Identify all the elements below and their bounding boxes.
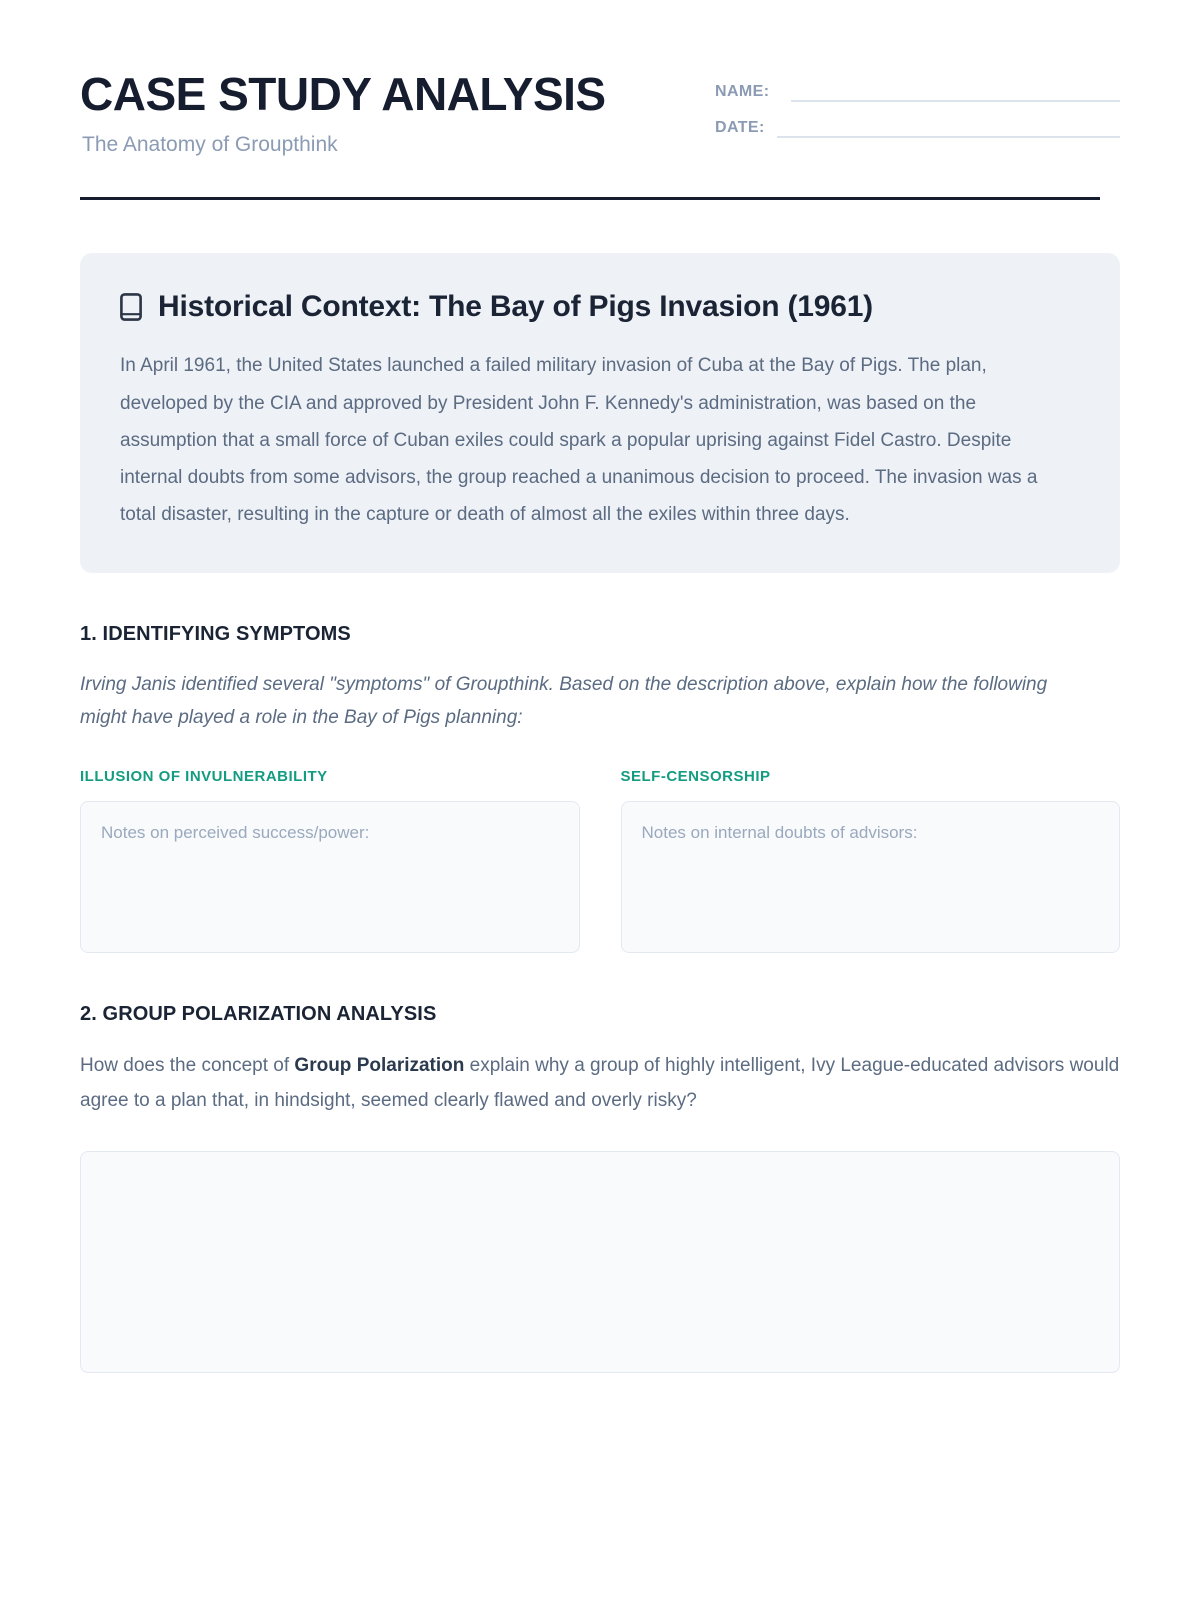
name-input[interactable] [791,86,1120,102]
book-icon [120,293,142,321]
symptom-column-invulnerability: ILLUSION OF INVULNERABILITY Notes on per… [80,768,580,953]
prompt-label-self-censorship: SELF-CENSORSHIP [621,768,1121,785]
worksheet-page: CASE STUDY ANALYSIS The Anatomy of Group… [0,0,1200,1600]
answer-box-self-censorship[interactable]: Notes on internal doubts of advisors: [621,801,1121,953]
section2-question-part1: How does the concept of [80,1055,294,1076]
date-label: DATE: [715,120,765,138]
section2-question: How does the concept of Group Polarizati… [80,1048,1120,1118]
page-title: CASE STUDY ANALYSIS [80,70,606,118]
historical-context-card: Historical Context: The Bay of Pigs Inva… [80,253,1120,572]
symptom-column-self-censorship: SELF-CENSORSHIP Notes on internal doubts… [621,768,1121,953]
context-heading-row: Historical Context: The Bay of Pigs Inva… [120,289,1080,325]
context-body-text: In April 1961, the United States launche… [120,347,1070,532]
date-field-row: DATE: [715,120,1120,138]
date-input[interactable] [777,122,1120,138]
section1-instruction: Irving Janis identified several "symptom… [80,668,1065,735]
name-field-row: NAME: [715,84,1120,102]
student-fields: NAME: DATE: [695,70,1120,138]
name-label: NAME: [715,84,769,102]
answer-box-group-polarization[interactable] [80,1151,1120,1373]
header-divider [80,197,1100,200]
section2-question-emphasis: Group Polarization [294,1055,464,1076]
section1-heading: 1. IDENTIFYING SYMPTOMS [80,623,1120,646]
page-subtitle: The Anatomy of Groupthink [82,132,606,157]
answer-placeholder-illusion-of-invulnerability: Notes on perceived success/power: [101,820,559,846]
answer-placeholder-self-censorship: Notes on internal doubts of advisors: [642,820,1100,846]
context-heading-text: Historical Context: The Bay of Pigs Inva… [158,289,873,325]
section-group-polarization-analysis: 2. GROUP POLARIZATION ANALYSIS How does … [80,1003,1120,1372]
section-identifying-symptoms: 1. IDENTIFYING SYMPTOMS Irving Janis ide… [80,623,1120,954]
prompt-label-illusion-of-invulnerability: ILLUSION OF INVULNERABILITY [80,768,580,785]
section2-heading: 2. GROUP POLARIZATION ANALYSIS [80,1003,1120,1026]
symptom-columns: ILLUSION OF INVULNERABILITY Notes on per… [80,768,1120,953]
page-header: CASE STUDY ANALYSIS The Anatomy of Group… [80,60,1120,157]
answer-box-illusion-of-invulnerability[interactable]: Notes on perceived success/power: [80,801,580,953]
header-title-block: CASE STUDY ANALYSIS The Anatomy of Group… [80,70,606,157]
